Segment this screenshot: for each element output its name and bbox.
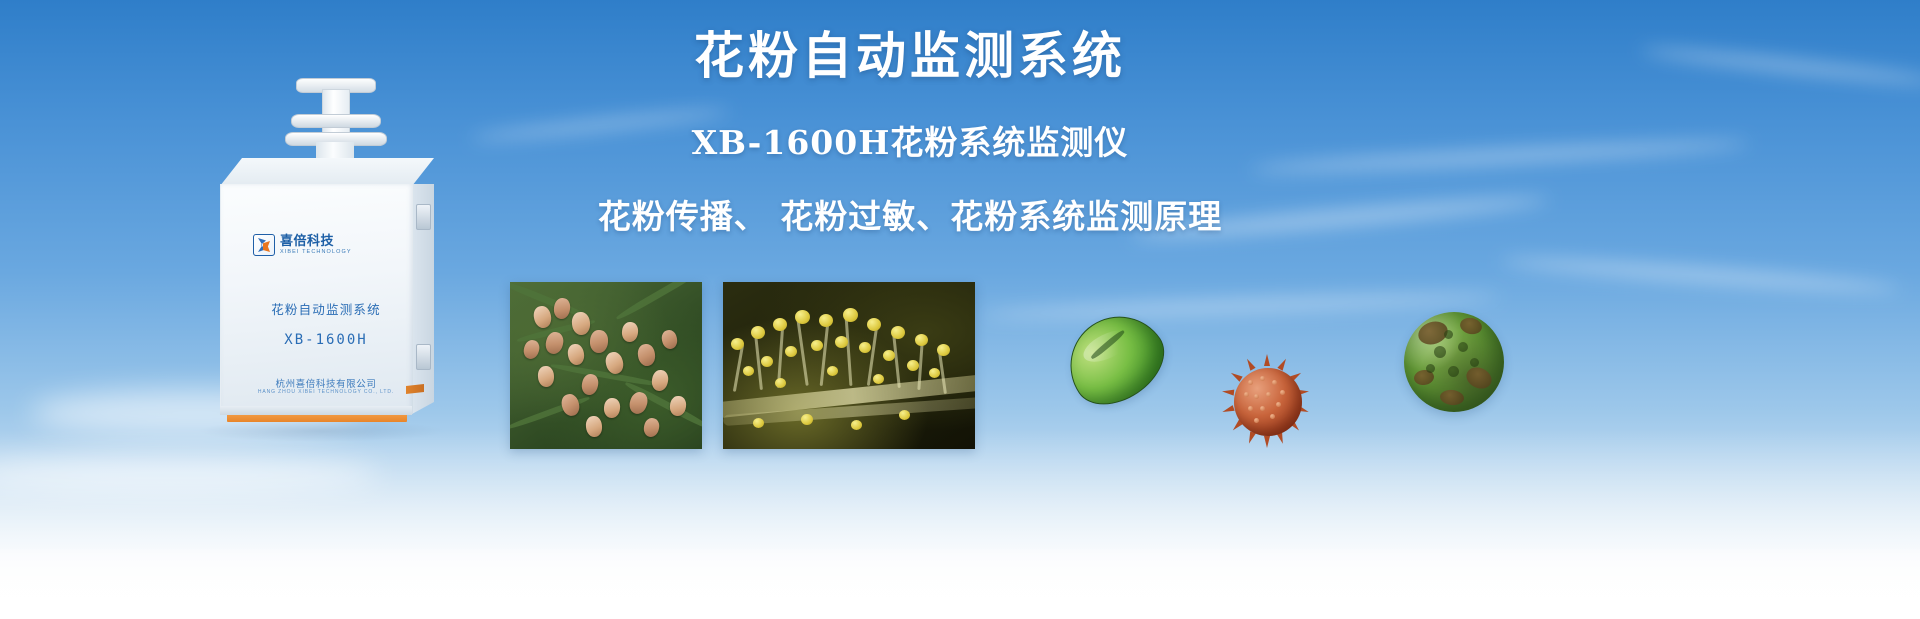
green-rough-grain-icon xyxy=(1404,312,1504,412)
anther xyxy=(873,374,884,384)
headline-block: 花粉自动监测系统 XB-1600H花粉系统监测仪 花粉传播、 花粉过敏、花粉系统… xyxy=(560,28,1260,238)
anther xyxy=(751,326,765,339)
grain-core xyxy=(1234,368,1302,436)
surface-dot xyxy=(1266,392,1271,397)
anther xyxy=(811,340,823,351)
spike xyxy=(1244,357,1255,370)
surface-dot xyxy=(1248,380,1253,385)
tagline: 花粉传播、 花粉过敏、花粉系统监测原理 xyxy=(560,190,1260,238)
anther xyxy=(929,368,940,378)
anther xyxy=(899,410,910,420)
anther xyxy=(937,344,950,356)
anther xyxy=(883,350,895,361)
surface-pore xyxy=(1448,366,1459,377)
anther xyxy=(851,420,862,430)
red-spiky-grain-icon xyxy=(1222,356,1314,448)
surface-dot xyxy=(1244,392,1249,397)
cloud-streak xyxy=(980,291,1500,321)
cabinet-latch xyxy=(416,204,431,230)
xibei-logo-icon xyxy=(253,234,275,256)
anther xyxy=(827,366,838,376)
anther xyxy=(859,342,871,353)
device-product-name: 花粉自动监测系统 xyxy=(251,299,401,318)
promo-banner: 花粉自动监测系统 XB-1600H花粉系统监测仪 花粉传播、 花粉过敏、花粉系统… xyxy=(0,0,1920,619)
brand-name-en: XIBEI TECHNOLOGY xyxy=(280,250,352,256)
anther xyxy=(731,338,744,350)
anther xyxy=(907,360,919,371)
surface-dot xyxy=(1254,418,1259,423)
anther xyxy=(761,356,773,367)
brand-logo: 喜倍科技 XIBEI TECHNOLOGY xyxy=(253,234,352,256)
anther xyxy=(835,336,848,348)
surface-pore xyxy=(1444,330,1453,339)
cabinet-base xyxy=(220,406,412,415)
anther xyxy=(867,318,881,331)
cabinet-face: 喜倍科技 XIBEI TECHNOLOGY 花粉自动监测系统 XB-1600H … xyxy=(220,184,413,414)
surface-dot xyxy=(1272,380,1277,385)
anther xyxy=(843,308,858,322)
surface-dot xyxy=(1276,402,1281,407)
surface-dot xyxy=(1260,376,1265,381)
anther xyxy=(753,418,764,428)
surface-pore xyxy=(1458,342,1468,352)
conifer-cones-photo xyxy=(510,282,702,449)
surface-blotch xyxy=(1459,316,1484,336)
surface-dot xyxy=(1254,394,1259,399)
brand-text: 喜倍科技 XIBEI TECHNOLOGY xyxy=(280,235,352,256)
surface-dot xyxy=(1270,414,1275,419)
device-model: XB-1600H xyxy=(251,332,401,348)
spike xyxy=(1264,354,1270,366)
anther xyxy=(785,346,797,357)
anther xyxy=(891,326,905,339)
spike xyxy=(1222,388,1235,395)
anther xyxy=(819,314,833,327)
anther xyxy=(915,334,928,346)
device-company-en: HANG ZHOU XIBEI TECHNOLOGY CO., LTD. xyxy=(243,389,409,395)
horizon-haze-lower xyxy=(0,549,1920,619)
cabinet-latch xyxy=(416,344,431,370)
surface-dot xyxy=(1248,406,1253,411)
surface-dot xyxy=(1280,390,1285,395)
anther xyxy=(775,378,786,388)
surface-blotch xyxy=(1463,364,1495,393)
surface-blotch xyxy=(1439,389,1464,406)
anther xyxy=(773,318,787,331)
surface-pore xyxy=(1434,346,1446,358)
surface-pore xyxy=(1426,364,1435,373)
anther xyxy=(743,366,754,376)
page-title: 花粉自动监测系统 xyxy=(560,28,1260,86)
cabinet-top xyxy=(220,158,434,186)
anther xyxy=(801,414,813,425)
anther xyxy=(795,310,810,324)
yellow-catkin-photo xyxy=(723,282,975,449)
brand-name-cn: 喜倍科技 xyxy=(280,235,352,248)
cloud-streak xyxy=(1640,44,1920,87)
surface-dot xyxy=(1260,406,1265,411)
pollen-monitor-device: 喜倍科技 XIBEI TECHNOLOGY 花粉自动监测系统 XB-1600H … xyxy=(212,78,452,428)
product-subtitle: XB-1600H花粉系统监测仪 xyxy=(560,116,1260,164)
surface-pore xyxy=(1470,358,1479,367)
device-company-cn: 杭州喜倍科技有限公司 xyxy=(243,376,409,390)
cloud-streak xyxy=(1250,137,1750,176)
cabinet-body: 喜倍科技 XIBEI TECHNOLOGY 花粉自动监测系统 XB-1600H … xyxy=(220,158,434,420)
stack-ring xyxy=(291,114,381,128)
cloud-streak xyxy=(1500,254,1900,296)
spike xyxy=(1221,405,1234,415)
spike xyxy=(1277,357,1288,370)
spike xyxy=(1264,436,1270,448)
